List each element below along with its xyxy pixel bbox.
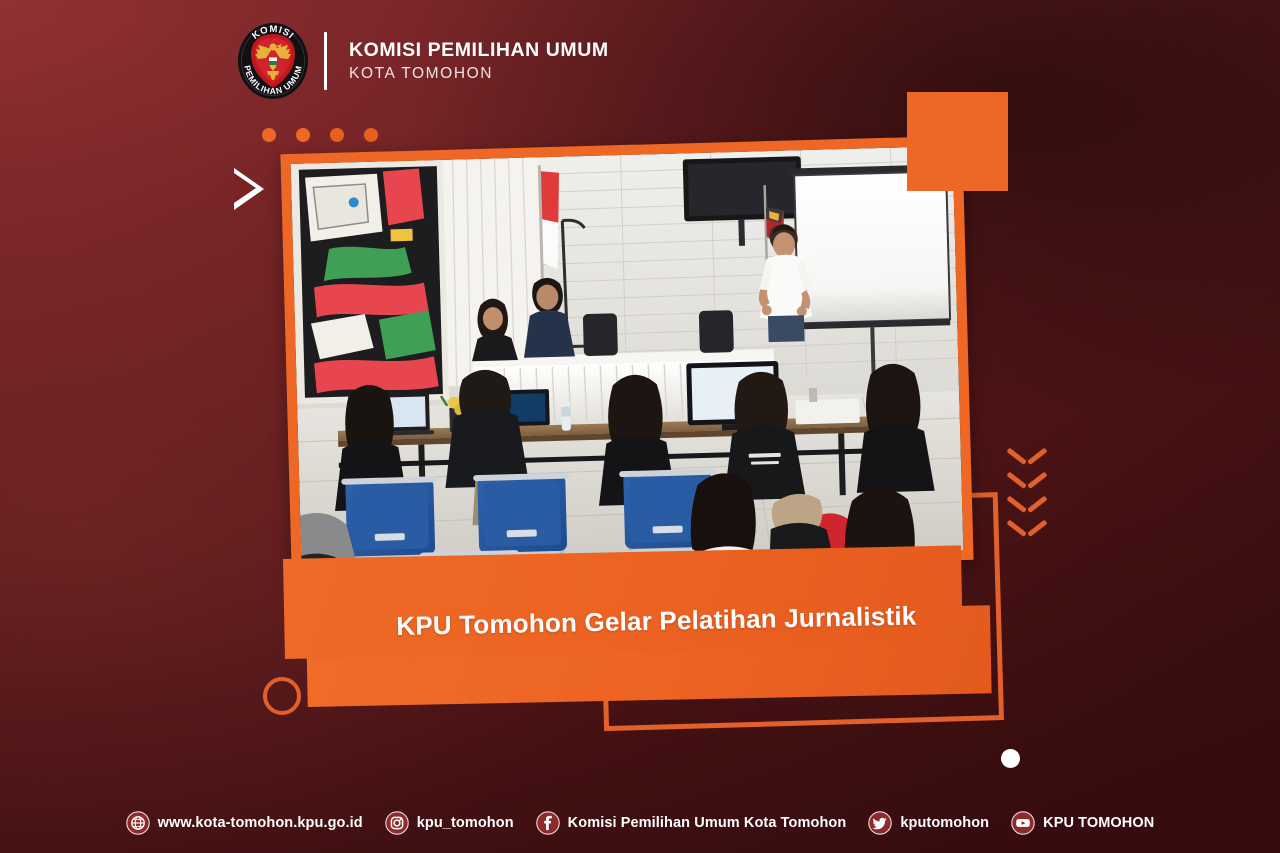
footer-label-twitter: kputomohon <box>900 815 989 831</box>
chevron-stack-icon <box>1008 447 1052 547</box>
chevron-up-icon <box>1008 471 1046 488</box>
white-dot-shape <box>1001 749 1020 768</box>
organization-region: KOTA TOMOHON <box>349 65 609 82</box>
decorative-dot <box>330 128 344 142</box>
article-photo-frame <box>280 136 973 578</box>
footer-item-twitter[interactable]: kputomohon <box>868 811 989 835</box>
kpu-garuda-emblem-icon: KOMISI PEMILIHAN UMUM <box>236 22 310 100</box>
decorative-dot <box>296 128 310 142</box>
footer-item-facebook[interactable]: Komisi Pemilihan Umum Kota Tomohon <box>536 811 847 835</box>
instagram-icon <box>385 811 409 835</box>
chevron-up-icon <box>1008 447 1046 464</box>
decorative-dots-row <box>262 128 378 142</box>
ring-circle-shape <box>263 677 301 715</box>
decorative-dot <box>262 128 276 142</box>
footer-item-website[interactable]: www.kota-tomohon.kpu.go.id <box>126 811 363 835</box>
facebook-icon <box>536 811 560 835</box>
footer-item-youtube[interactable]: KPU TOMOHON <box>1011 811 1154 835</box>
orange-square-shape <box>907 92 1008 191</box>
play-triangle-cutout <box>234 173 256 203</box>
footer-item-instagram[interactable]: kpu_tomohon <box>385 811 514 835</box>
social-footer: www.kota-tomohon.kpu.go.id kpu_tomohon <box>0 793 1280 853</box>
header-text-block: KOMISI PEMILIHAN UMUM KOTA TOMOHON <box>349 40 609 82</box>
decorative-dot <box>364 128 378 142</box>
poster-canvas: KOMISI PEMILIHAN UMUM KOMISI PEMILIHAN U… <box>0 0 1280 853</box>
chevron-up-icon <box>1008 495 1046 512</box>
header-divider <box>324 32 327 90</box>
chevron-up-icon <box>1008 519 1046 536</box>
footer-label-instagram: kpu_tomohon <box>417 815 514 831</box>
youtube-icon <box>1011 811 1035 835</box>
brand-header: KOMISI PEMILIHAN UMUM KOMISI PEMILIHAN U… <box>236 22 609 100</box>
globe-icon <box>126 811 150 835</box>
footer-label-website: www.kota-tomohon.kpu.go.id <box>158 815 363 831</box>
organization-name: KOMISI PEMILIHAN UMUM <box>349 40 609 62</box>
footer-label-facebook: Komisi Pemilihan Umum Kota Tomohon <box>568 815 847 831</box>
footer-label-youtube: KPU TOMOHON <box>1043 815 1154 831</box>
twitter-icon <box>868 811 892 835</box>
article-photo <box>291 146 964 568</box>
